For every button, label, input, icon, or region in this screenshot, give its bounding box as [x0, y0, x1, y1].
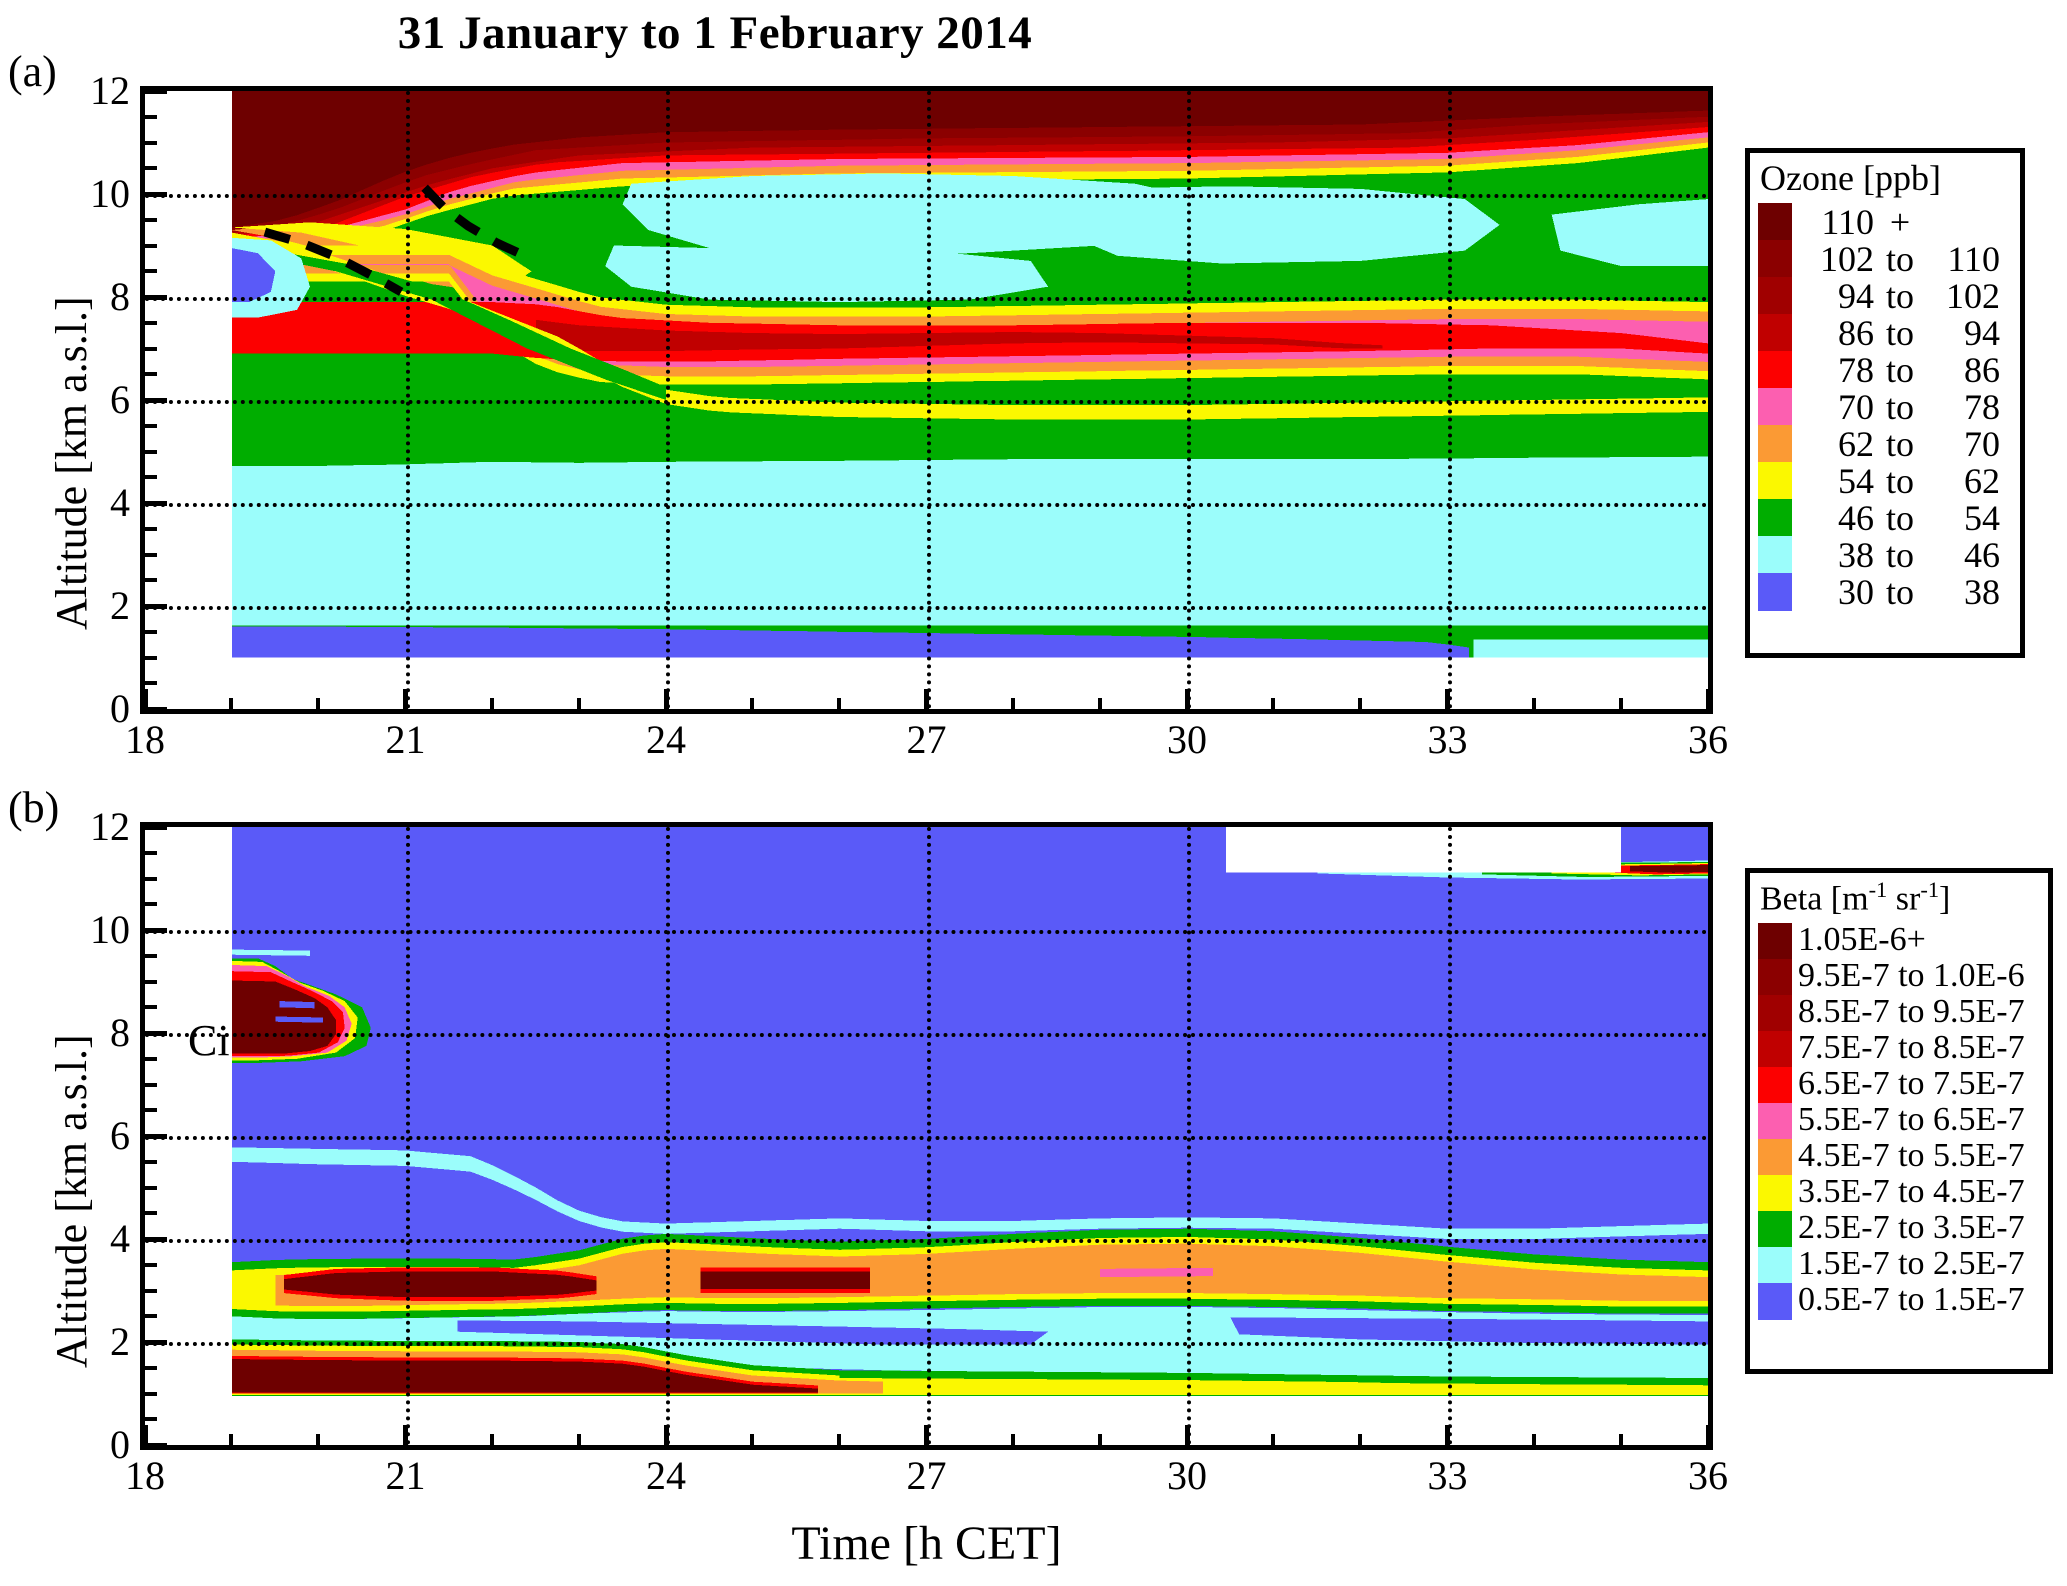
- y-tick-minor: [145, 1263, 157, 1267]
- x-tick-label: 24: [606, 1456, 726, 1496]
- x-tick-minor: [1098, 1434, 1102, 1445]
- x-tick-minor: [1532, 1434, 1536, 1445]
- beta-aerosol-maroon-core-2: [701, 1271, 870, 1289]
- x-tick-label: 21: [346, 1456, 466, 1496]
- beta-legend-swatch: [1758, 1211, 1792, 1248]
- y-tick-label: 8: [44, 1013, 130, 1053]
- beta-legend-swatch: [1758, 995, 1792, 1032]
- y-tick-minor: [145, 141, 157, 145]
- y-tick-minor: [145, 269, 157, 273]
- beta-legend-label: 3.5E-7 to 4.5E-7: [1798, 1173, 2025, 1211]
- gridline-vertical: [927, 91, 931, 709]
- gridline-vertical: [406, 91, 410, 709]
- x-tick-label: 36: [1648, 1456, 1768, 1496]
- x-tick-minor: [316, 1434, 320, 1445]
- gridline-vertical: [1448, 827, 1452, 1445]
- panel-b-plot-area[interactable]: [140, 822, 1713, 1450]
- y-tick-minor: [145, 372, 157, 376]
- ozone-legend-label: 38to46: [1800, 534, 2000, 576]
- x-tick-minor: [837, 1434, 841, 1445]
- y-tick-label: 10: [44, 910, 130, 950]
- ozone-legend-swatch: [1758, 425, 1792, 463]
- y-tick-minor: [145, 347, 157, 351]
- beta-legend-title-name: Beta [m: [1760, 880, 1869, 917]
- ozone-legend-label: 110+: [1800, 201, 2000, 243]
- x-tick-label: 18: [85, 720, 205, 760]
- beta-legend-title-end: ]: [1939, 880, 1950, 917]
- beta-cirrus-notch-1: [280, 1001, 315, 1008]
- ozone-legend-row: 54to62: [1758, 462, 2016, 499]
- y-tick-minor: [145, 851, 157, 855]
- x-tick-major: [1706, 689, 1711, 709]
- y-tick-minor: [145, 1108, 157, 1112]
- x-tick-label: 30: [1127, 1456, 1247, 1496]
- x-tick-minor: [750, 1434, 754, 1445]
- y-tick-minor: [145, 166, 157, 170]
- y-tick-minor: [145, 424, 157, 428]
- ozone-legend-swatch: [1758, 277, 1792, 315]
- beta-legend-row: 6.5E-7 to 7.5E-7: [1758, 1067, 2044, 1103]
- y-tick-minor: [145, 475, 157, 479]
- x-tick-major: [1706, 1425, 1711, 1445]
- x-tick-minor: [1011, 1434, 1015, 1445]
- ozone-legend-title: Ozone [ppb]: [1760, 157, 1941, 199]
- beta-legend-title: Beta [m-1 sr-1]: [1760, 877, 1950, 918]
- cirrus-annotation-label: Ci: [188, 1015, 230, 1066]
- beta-legend-title-sup1: -1: [1869, 877, 1888, 902]
- y-tick-minor: [145, 1083, 157, 1087]
- ozone-legend-label: 86to94: [1800, 312, 2000, 354]
- y-tick-label: 12: [44, 807, 130, 847]
- x-tick-minor: [1271, 1434, 1275, 1445]
- figure-title: 31 January to 1 February 2014: [0, 6, 1430, 60]
- gridline-vertical: [666, 827, 670, 1445]
- x-tick-minor: [1619, 698, 1623, 709]
- beta-legend-row: 4.5E-7 to 5.5E-7: [1758, 1139, 2044, 1175]
- x-tick-label: 18: [85, 1456, 205, 1496]
- y-tick-minor: [145, 954, 157, 958]
- beta-legend-row: 7.5E-7 to 8.5E-7: [1758, 1031, 2044, 1067]
- beta-legend-label: 8.5E-7 to 9.5E-7: [1798, 993, 2025, 1031]
- y-tick-minor: [145, 1392, 157, 1396]
- beta-legend-label: 9.5E-7 to 1.0E-6: [1798, 957, 2025, 995]
- x-tick-label: 27: [867, 720, 987, 760]
- y-tick-minor: [145, 656, 157, 660]
- beta-legend-row: 1.05E-6+: [1758, 923, 2044, 959]
- beta-legend-swatch: [1758, 1031, 1792, 1068]
- y-tick-minor: [145, 630, 157, 634]
- gridline-vertical: [1448, 91, 1452, 709]
- no-data-left-block: [145, 91, 232, 466]
- x-tick-minor: [1011, 698, 1015, 709]
- beta-legend-label: 1.5E-7 to 2.5E-7: [1798, 1245, 2025, 1283]
- y-tick-minor: [145, 218, 157, 222]
- y-tick-label: 10: [44, 174, 130, 214]
- x-tick-label: 24: [606, 720, 726, 760]
- x-tick-minor: [1098, 698, 1102, 709]
- x-tick-label: 33: [1388, 720, 1508, 760]
- y-tick-minor: [145, 1314, 157, 1318]
- gridline-vertical: [1187, 91, 1191, 709]
- ozone-legend-row: 102to110: [1758, 240, 2016, 277]
- beta-legend-swatch: [1758, 1247, 1792, 1284]
- y-tick-label: 8: [44, 277, 130, 317]
- ozone-legend-swatch: [1758, 351, 1792, 389]
- x-tick-minor: [750, 698, 754, 709]
- ozone-legend-swatch: [1758, 462, 1792, 500]
- beta-legend-row: 5.5E-7 to 6.5E-7: [1758, 1103, 2044, 1139]
- beta-legend-swatch: [1758, 959, 1792, 996]
- y-tick-minor: [145, 1057, 157, 1061]
- x-tick-minor: [1358, 698, 1362, 709]
- y-tick-label: 2: [44, 586, 130, 626]
- beta-cirrus-notch-2: [275, 1017, 323, 1023]
- ozone-legend-row: 110+: [1758, 203, 2016, 240]
- ozone-legend-row: 46to54: [1758, 499, 2016, 536]
- beta-legend-title-sup2: -1: [1920, 877, 1939, 902]
- ozone-legend-row: 38to46: [1758, 536, 2016, 573]
- y-tick-label: 12: [44, 71, 130, 111]
- beta-legend-swatch: [1758, 1067, 1792, 1104]
- beta-legend-row: 8.5E-7 to 9.5E-7: [1758, 995, 2044, 1031]
- beta-legend-row: 9.5E-7 to 1.0E-6: [1758, 959, 2044, 995]
- x-tick-minor: [577, 698, 581, 709]
- ozone-legend-row: 70to78: [1758, 388, 2016, 425]
- beta-legend-label: 1.05E-6+: [1798, 921, 1926, 959]
- x-tick-minor: [490, 698, 494, 709]
- x-tick-minor: [316, 698, 320, 709]
- ozone-legend-row: 30to38: [1758, 573, 2016, 610]
- panel-b-y-axis-label: Altitude [km a.s.l.]: [46, 1034, 97, 1368]
- y-tick-label: 6: [44, 1116, 130, 1156]
- beta-legend-label: 7.5E-7 to 8.5E-7: [1798, 1029, 2025, 1067]
- beta-aerosol-maroon-core: [284, 1271, 597, 1297]
- beta-aerosol-pink-patch: [1100, 1268, 1213, 1277]
- figure-root: 31 January to 1 February 2014 (a) (b) Al…: [0, 0, 2067, 1586]
- beta-legend-swatch: [1758, 1283, 1792, 1320]
- gridline-vertical: [666, 91, 670, 709]
- beta-legend-swatch: [1758, 1175, 1792, 1212]
- beta-legend-swatch: [1758, 923, 1792, 960]
- beta-legend-label: 2.5E-7 to 3.5E-7: [1798, 1209, 2025, 1247]
- y-tick-minor: [145, 527, 157, 531]
- ozone-legend-label: 94to102: [1800, 275, 2000, 317]
- x-tick-minor: [229, 698, 233, 709]
- ozone-legend-row: 94to102: [1758, 277, 2016, 314]
- x-tick-minor: [837, 698, 841, 709]
- y-tick-label: 6: [44, 380, 130, 420]
- y-tick-label: 4: [44, 1219, 130, 1259]
- y-tick-label: 2: [44, 1322, 130, 1362]
- ozone-legend-label: 62to70: [1800, 423, 2000, 465]
- ozone-legend-swatch: [1758, 314, 1792, 352]
- x-tick-minor: [1271, 698, 1275, 709]
- ozone-legend-row: 62to70: [1758, 425, 2016, 462]
- x-tick-minor: [1358, 1434, 1362, 1445]
- beta-legend-title-mid: sr: [1887, 880, 1920, 917]
- x-tick-minor: [490, 1434, 494, 1445]
- gridline-vertical: [406, 827, 410, 1445]
- beta-no-data-top-gap: [1226, 827, 1621, 872]
- x-tick-label: 33: [1388, 1456, 1508, 1496]
- y-tick-minor: [145, 1186, 157, 1190]
- y-tick-major: [145, 1443, 167, 1448]
- x-tick-minor: [577, 1434, 581, 1445]
- beta-legend-rows: 1.05E-6+9.5E-7 to 1.0E-68.5E-7 to 9.5E-7…: [1758, 923, 2044, 1319]
- y-tick-major: [145, 89, 167, 94]
- ozone-legend-swatch: [1758, 388, 1792, 426]
- ozone-legend-label: 30to38: [1800, 571, 2000, 613]
- ozone-legend-swatch: [1758, 536, 1792, 574]
- y-tick-minor: [145, 553, 157, 557]
- x-tick-major: [143, 1425, 148, 1445]
- x-axis-label: Time [h CET]: [140, 1516, 1713, 1571]
- x-tick-label: 27: [867, 1456, 987, 1496]
- y-tick-minor: [145, 1005, 157, 1009]
- y-tick-minor: [145, 1211, 157, 1215]
- y-tick-minor: [145, 578, 157, 582]
- ozone-legend-label: 78to86: [1800, 349, 2000, 391]
- y-tick-minor: [145, 902, 157, 906]
- beta-legend-swatch: [1758, 1103, 1792, 1140]
- x-tick-minor: [1532, 698, 1536, 709]
- ozone-legend-row: 78to86: [1758, 351, 2016, 388]
- x-tick-label: 30: [1127, 720, 1247, 760]
- y-tick-major: [145, 825, 167, 830]
- ozone-legend-label: 54to62: [1800, 460, 2000, 502]
- beta-legend-row: 2.5E-7 to 3.5E-7: [1758, 1211, 2044, 1247]
- ozone-legend-label: 46to54: [1800, 497, 2000, 539]
- y-tick-minor: [145, 681, 157, 685]
- beta-legend-row: 1.5E-7 to 2.5E-7: [1758, 1247, 2044, 1283]
- x-tick-major: [143, 689, 148, 709]
- beta-legend-swatch: [1758, 1139, 1792, 1176]
- y-tick-minor: [145, 877, 157, 881]
- ozone-legend-label: 70to78: [1800, 386, 2000, 428]
- ozone-cyan-bl-right: [1474, 640, 1709, 658]
- beta-legend-row: 3.5E-7 to 4.5E-7: [1758, 1175, 2044, 1211]
- beta-upper-cirrus-maroon: [1630, 865, 1708, 873]
- y-tick-major: [145, 707, 167, 712]
- panel-a-y-axis-label: Altitude [km a.s.l.]: [46, 296, 97, 630]
- x-tick-label: 36: [1648, 720, 1768, 760]
- beta-legend: Beta [m-1 sr-1] 1.05E-6+9.5E-7 to 1.0E-6…: [1745, 868, 2053, 1374]
- x-tick-minor: [1619, 1434, 1623, 1445]
- y-tick-minor: [145, 1366, 157, 1370]
- y-tick-label: 4: [44, 483, 130, 523]
- panel-a-plot-area[interactable]: [140, 86, 1713, 714]
- y-tick-minor: [145, 244, 157, 248]
- beta-legend-label: 5.5E-7 to 6.5E-7: [1798, 1101, 2025, 1139]
- ozone-legend-label: 102to110: [1800, 238, 2000, 280]
- beta-legend-label: 4.5E-7 to 5.5E-7: [1798, 1137, 2025, 1175]
- y-tick-minor: [145, 450, 157, 454]
- y-tick-minor: [145, 321, 157, 325]
- ozone-legend-swatch: [1758, 573, 1792, 611]
- ozone-legend: Ozone [ppb] 110+102to11094to10286to9478t…: [1745, 148, 2025, 658]
- beta-legend-label: 6.5E-7 to 7.5E-7: [1798, 1065, 2025, 1103]
- ozone-legend-swatch: [1758, 203, 1792, 241]
- beta-legend-label: 0.5E-7 to 1.5E-7: [1798, 1281, 2025, 1319]
- ozone-legend-swatch: [1758, 499, 1792, 537]
- y-tick-minor: [145, 115, 157, 119]
- ozone-legend-row: 86to94: [1758, 314, 2016, 351]
- gridline-vertical: [1187, 827, 1191, 1445]
- y-tick-minor: [145, 1417, 157, 1421]
- ozone-legend-rows: 110+102to11094to10286to9478to8670to7862t…: [1758, 203, 2016, 610]
- x-tick-minor: [229, 1434, 233, 1445]
- gridline-vertical: [927, 827, 931, 1445]
- ozone-legend-swatch: [1758, 240, 1792, 278]
- y-tick-minor: [145, 1289, 157, 1293]
- beta-legend-row: 0.5E-7 to 1.5E-7: [1758, 1283, 2044, 1319]
- y-tick-minor: [145, 980, 157, 984]
- y-tick-minor: [145, 1160, 157, 1164]
- x-tick-label: 21: [346, 720, 466, 760]
